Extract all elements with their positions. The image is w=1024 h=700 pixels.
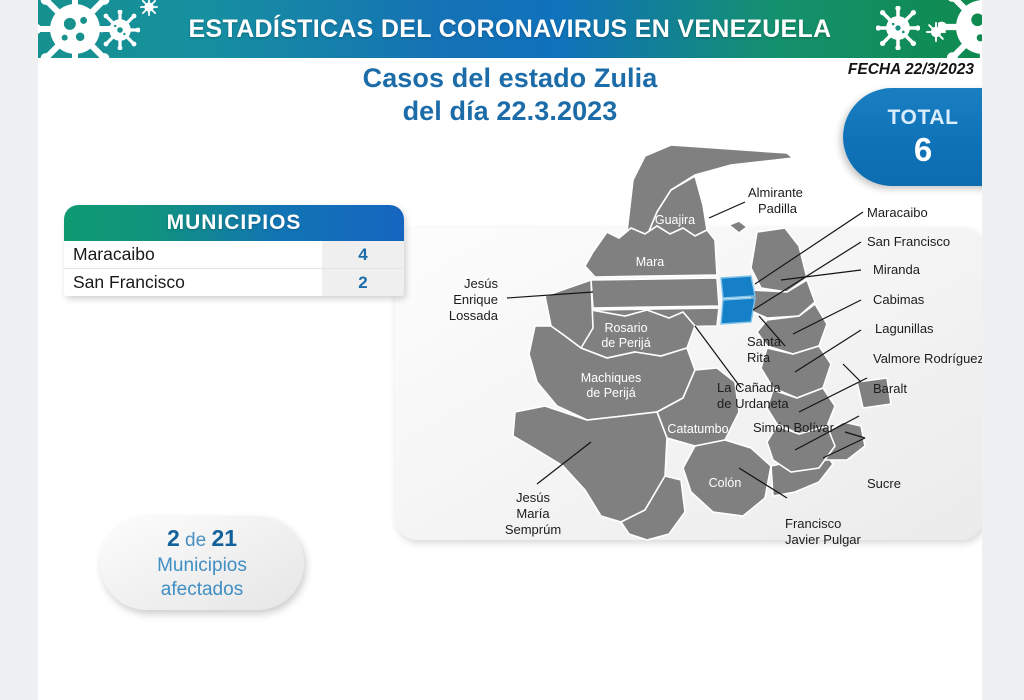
map-label-sucre: Sucre <box>867 476 901 491</box>
map-label-mara: Mara <box>636 255 665 269</box>
map-label-jesus-enrique-lossada: Jesús <box>464 276 498 291</box>
map-label-colon: Colón <box>709 476 742 490</box>
map-label-machiques-de-perija: Machiques <box>581 371 641 385</box>
total-badge: TOTAL 6 <box>843 88 982 186</box>
affected-line-3: afectados <box>161 578 243 602</box>
infographic-page: ESTADÍSTICAS DEL CORONAVIRUS EN VENEZUEL… <box>38 0 982 700</box>
date-label: FECHA 22/3/2023 <box>848 61 974 79</box>
map-regions <box>513 145 891 540</box>
map-label-jesus-maria-semprum-3: Semprúm <box>505 522 561 537</box>
table-cell-value: 4 <box>322 241 404 268</box>
page-title: Casos del estado Zulia del día 22.3.2023 <box>38 62 982 128</box>
leader-line <box>843 364 861 382</box>
table-cell-name: Maracaibo <box>64 244 322 265</box>
affected-total: 21 <box>211 525 237 551</box>
table-row: Maracaibo 4 <box>64 241 404 269</box>
map-label-santa-rita: Santa <box>747 334 782 349</box>
map-label-simon-bolivar: Simón Bolívar <box>753 420 835 435</box>
map-region-almirante-padilla <box>729 221 747 233</box>
table-cell-name: San Francisco <box>64 272 322 293</box>
map-label-lagunillas: Lagunillas <box>875 321 934 336</box>
map-label-san-francisco: San Francisco <box>867 234 950 249</box>
affected-connector: de <box>180 530 212 551</box>
map-label-valmore-rodriguez: Valmore Rodríguez <box>873 351 982 366</box>
affected-line-2: Municipios <box>157 554 247 578</box>
map-region-jesus-enrique-lossada <box>591 278 719 308</box>
map-label-santa-rita-2: Rita <box>747 350 771 365</box>
header-title: ESTADÍSTICAS DEL CORONAVIRUS EN VENEZUEL… <box>38 0 982 58</box>
map-label-francisco-javier-pulgar: Francisco <box>785 516 841 531</box>
map-region-miranda <box>751 228 807 292</box>
map-label-francisco-javier-pulgar-2: Javier Pulgar <box>785 532 862 547</box>
municipios-table: MUNICIPIOS Maracaibo 4 San Francisco 2 <box>64 205 404 296</box>
table-header-label: MUNICIPIOS <box>167 211 302 235</box>
map-label-catatumbo: Catatumbo <box>667 422 728 436</box>
map-label-jesus-enrique-lossada-3: Lossada <box>449 308 499 323</box>
map-label-jesus-enrique-lossada-2: Enrique <box>453 292 498 307</box>
map-label-cabimas: Cabimas <box>873 292 925 307</box>
map-label-maracaibo: Maracaibo <box>867 205 928 220</box>
map-label-la-canada-de-urdaneta: La Cañada <box>717 380 781 395</box>
leader-line <box>709 202 745 218</box>
table-header: MUNICIPIOS <box>64 205 404 241</box>
map-label-jesus-maria-semprum-2: María <box>516 506 550 521</box>
map-label-la-canada-de-urdaneta-2: de Urdaneta <box>717 396 789 411</box>
affected-count: 2 <box>167 525 180 551</box>
map-label-rosario-de-perija-2: de Perijá <box>601 336 650 350</box>
map-label-miranda: Miranda <box>873 262 921 277</box>
title-line-1: Casos del estado Zulia <box>38 62 982 95</box>
map-label-jesus-maria-semprum: Jesús <box>516 490 550 505</box>
map-region-maracaibo-highlight <box>721 276 755 298</box>
map-label-rosario-de-perija: Rosario <box>604 321 647 335</box>
map-label-almirante-padilla-2: Padilla <box>758 201 798 216</box>
map-label-guajira: Guajira <box>655 213 695 227</box>
page-header: ESTADÍSTICAS DEL CORONAVIRUS EN VENEZUEL… <box>38 0 982 58</box>
total-value: 6 <box>914 132 932 168</box>
zulia-map: Guajira Mara Rosario de Perijá Machiques… <box>395 120 982 580</box>
map-label-machiques-de-perija-2: de Perijá <box>586 386 635 400</box>
title-line-2: del día 22.3.2023 <box>38 95 982 128</box>
table-row: San Francisco 2 <box>64 269 404 296</box>
affected-count-line: 2 de 21 <box>167 525 237 554</box>
table-cell-value: 2 <box>322 269 404 296</box>
map-region-san-francisco-highlight <box>721 298 755 324</box>
affected-municipalities-badge: 2 de 21 Municipios afectados <box>100 516 304 610</box>
map-label-almirante-padilla: Almirante <box>748 185 803 200</box>
map-label-baralt: Baralt <box>873 381 907 396</box>
total-label: TOTAL <box>887 106 958 130</box>
